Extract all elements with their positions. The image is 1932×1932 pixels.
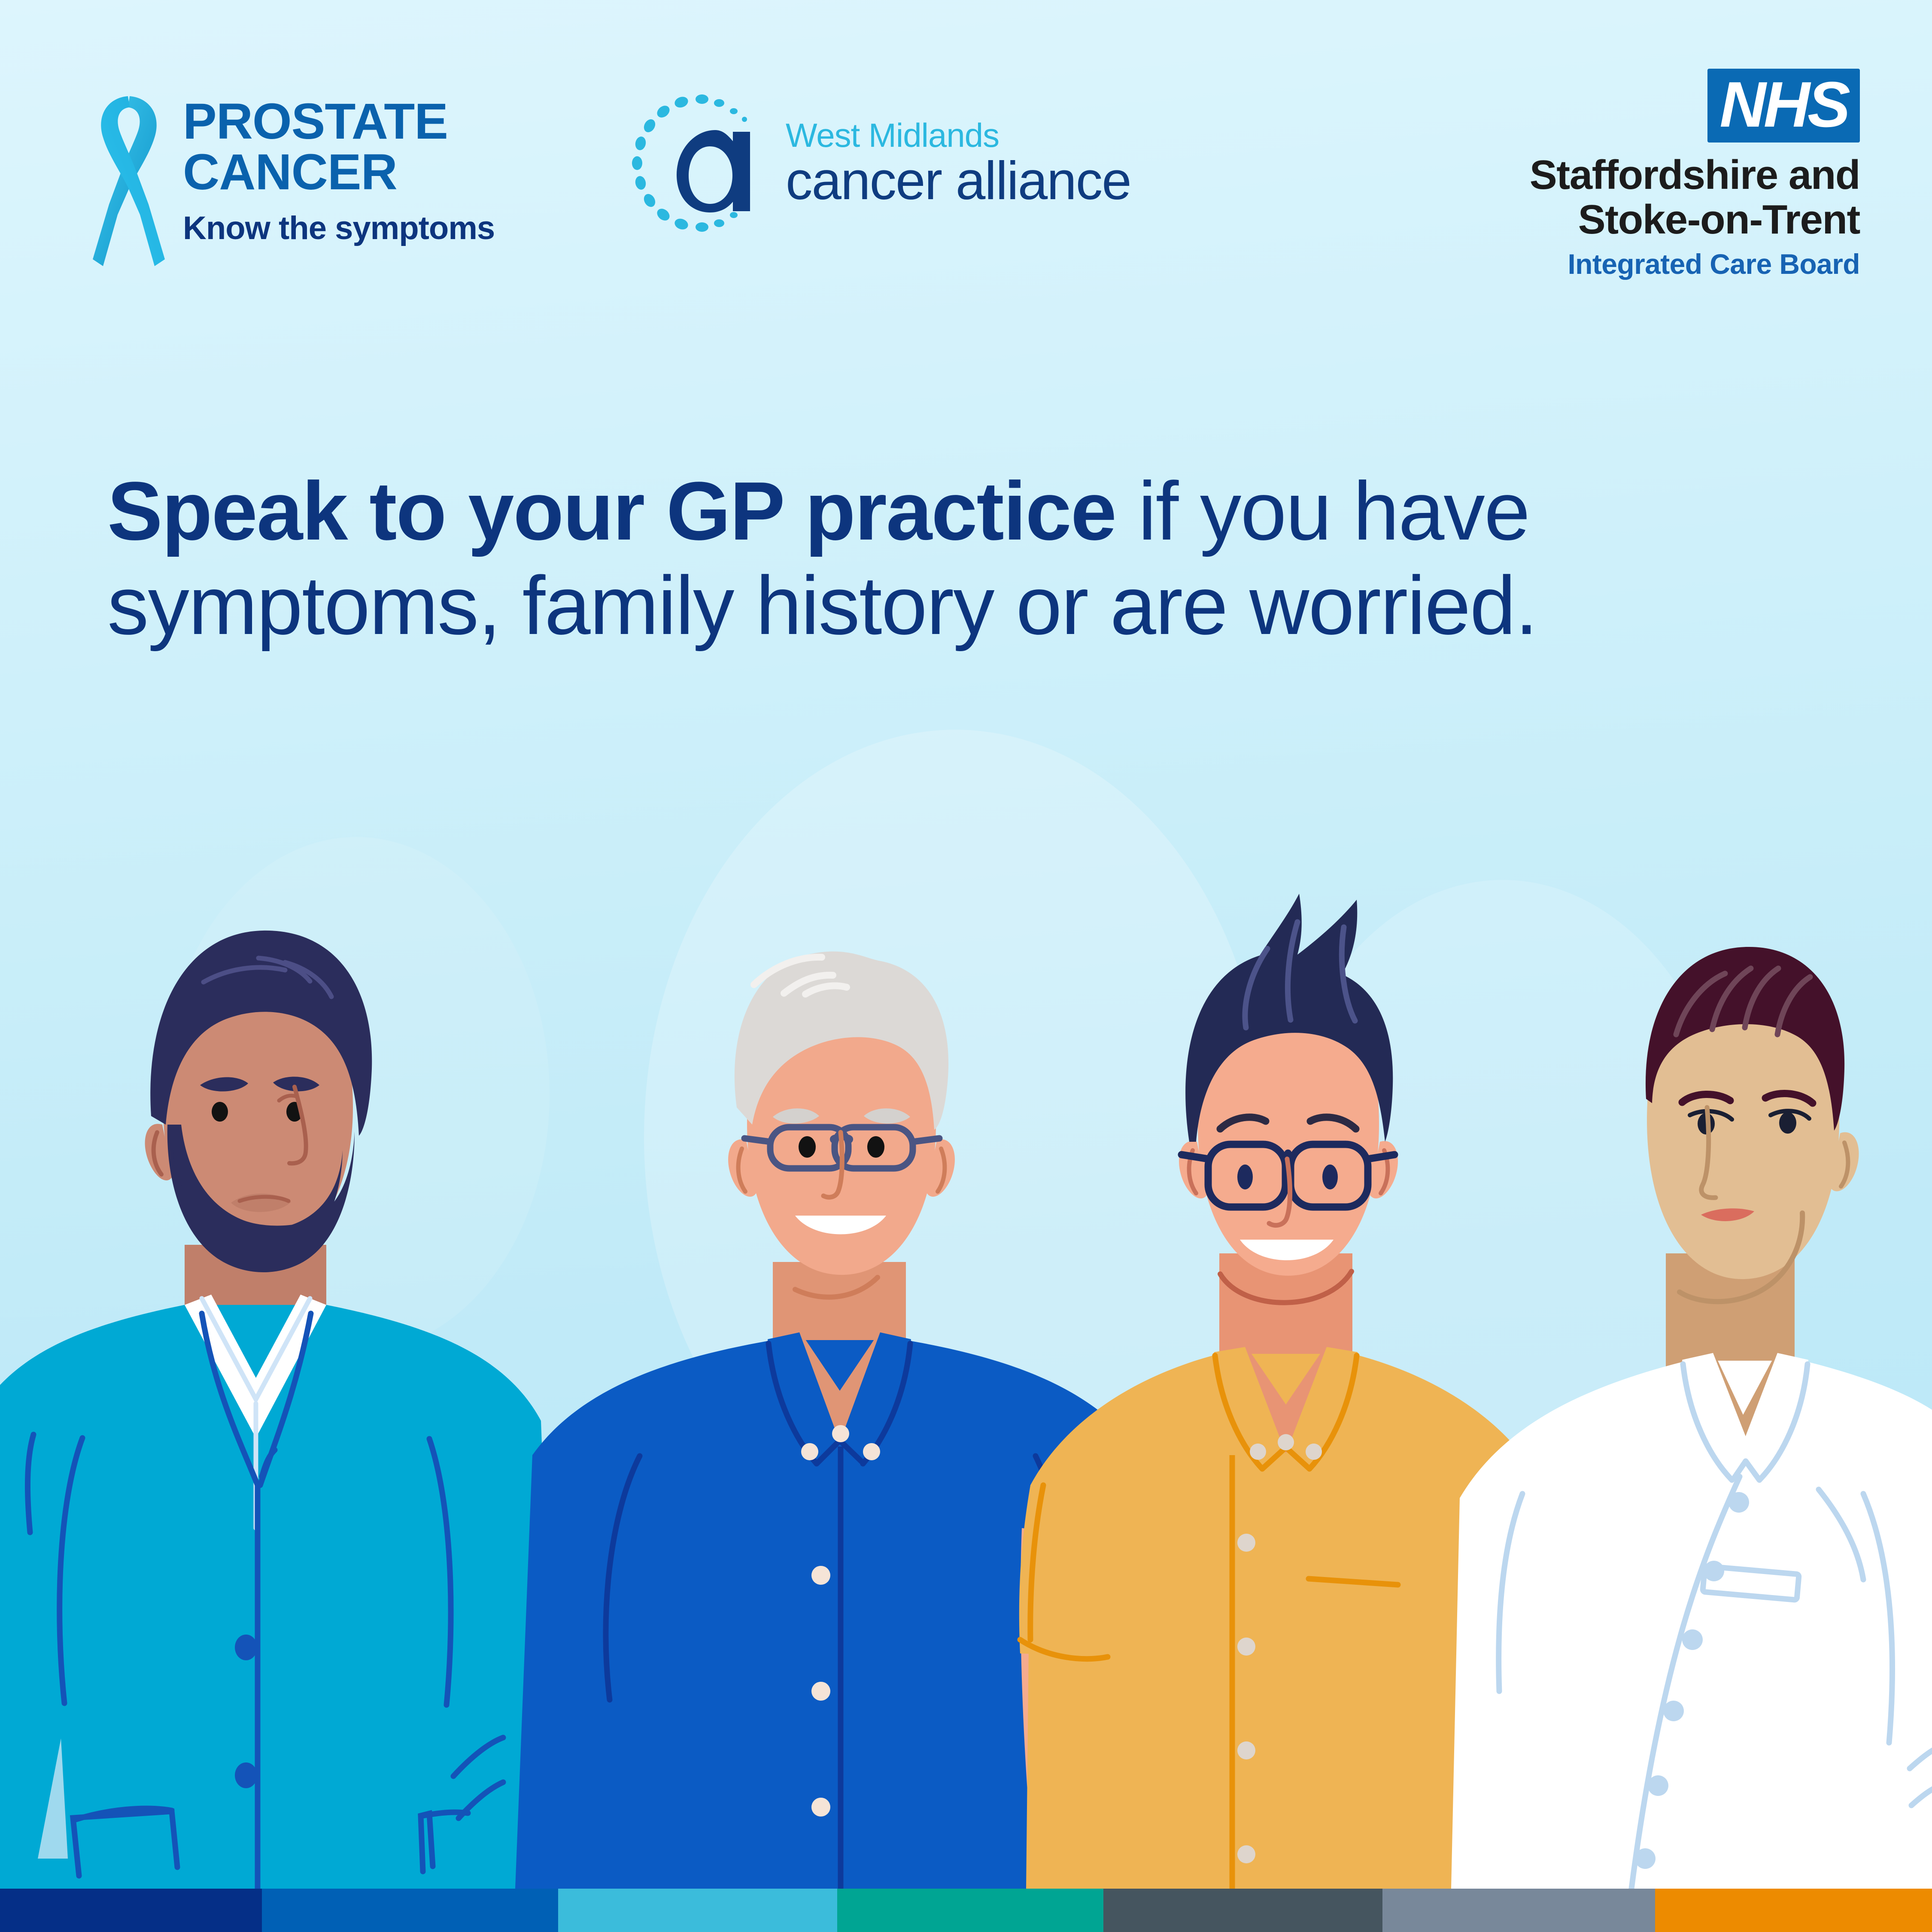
prostate-cancer-logo: PROSTATE CANCER Know the symptoms [90, 86, 495, 275]
headline-text: Speak to your GP practice if you have sy… [107, 464, 1833, 652]
cancer-alliance-line2: cancer alliance [786, 154, 1131, 208]
segment-gray [1382, 1889, 1655, 1932]
segment-cyan [558, 1889, 837, 1932]
nhs-org-line3: Integrated Care Board [1388, 249, 1860, 280]
segment-slate [1103, 1889, 1382, 1932]
logo-header: PROSTATE CANCER Know the symptoms [0, 0, 1932, 378]
prostate-cancer-tagline: Know the symptoms [183, 212, 495, 245]
segment-teal [837, 1889, 1103, 1932]
poster-canvas: PROSTATE CANCER Know the symptoms [0, 0, 1932, 1932]
dotted-circle-a-icon [631, 92, 773, 234]
cancer-alliance-line1: West Midlands [786, 118, 1131, 153]
nhs-wordmark: NHS [1719, 68, 1848, 140]
awareness-ribbon-icon [90, 86, 167, 275]
four-men-illustration [0, 884, 1932, 1889]
nhs-org-line1: Staffordshire and [1388, 153, 1860, 197]
headline-bold: Speak to your GP practice [107, 464, 1116, 557]
cancer-alliance-logo: West Midlands cancer alliance [631, 92, 1131, 234]
prostate-cancer-line1: PROSTATE [183, 96, 495, 147]
figure-man-in-white-shirt [1451, 947, 1932, 1889]
segment-orange [1655, 1889, 1932, 1932]
segment-navy [0, 1889, 262, 1932]
nhs-org-line2: Stoke-on-Trent [1388, 197, 1860, 242]
figure-man-with-beard [0, 931, 558, 1889]
segment-blue [262, 1889, 558, 1932]
nhs-wordmark-box: NHS [1707, 69, 1860, 143]
nhs-icb-logo: NHS Staffordshire and Stoke-on-Trent Int… [1388, 69, 1860, 280]
prostate-cancer-line2: CANCER [183, 147, 495, 197]
bottom-color-bar [0, 1889, 1932, 1932]
